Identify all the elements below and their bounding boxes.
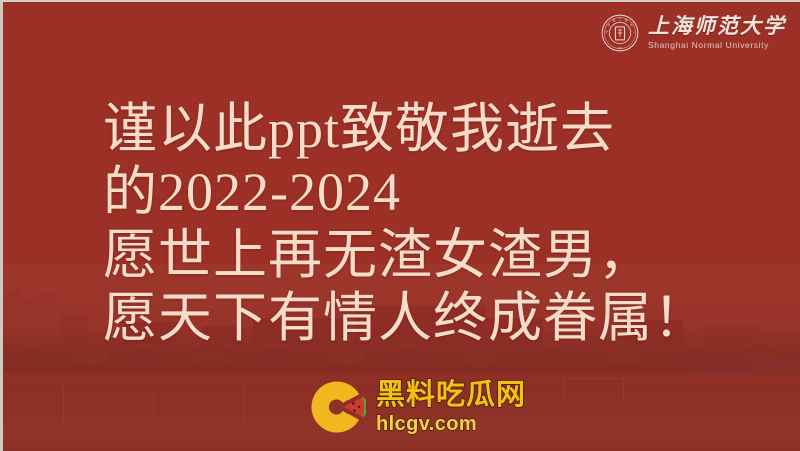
svg-text:学: 学: [605, 30, 608, 34]
slide-headline: 谨以此ppt致敬我逝去 的2022-2024 愿世上再无渣女渣男， 愿天下有情人…: [103, 98, 708, 350]
presentation-slide: 上 海 师 范 大 学 1 1954 上海师范大学 Shanghai Norma…: [0, 0, 800, 451]
headline-line-2: 的2022-2024: [103, 161, 708, 224]
university-name-en: Shanghai Normal University: [648, 41, 769, 50]
svg-text:1: 1: [633, 31, 635, 34]
watermelon-c-logo-icon: [308, 378, 366, 436]
university-name-block: 上海师范大学 Shanghai Normal University: [648, 16, 786, 50]
university-name-cn: 上海师范大学: [648, 16, 786, 37]
watermark-site-name: 黑料吃瓜网: [376, 381, 526, 410]
university-seal-icon: 上 海 师 范 大 学 1 1954: [601, 14, 639, 52]
svg-text:1954: 1954: [617, 47, 623, 50]
university-logo: 上 海 师 范 大 学 1 1954 上海师范大学 Shanghai Norma…: [601, 14, 786, 52]
headline-line-4: 愿天下有情人终成眷属！: [103, 287, 708, 350]
watermark-url[interactable]: hlcgv.com: [376, 414, 477, 434]
headline-line-3: 愿世上再无渣女渣男，: [103, 224, 708, 287]
watermark-text-block: 黑料吃瓜网 hlcgv.com: [376, 381, 526, 434]
headline-line-1: 谨以此ppt致敬我逝去: [103, 98, 708, 161]
site-watermark[interactable]: 黑料吃瓜网 hlcgv.com: [308, 378, 526, 436]
